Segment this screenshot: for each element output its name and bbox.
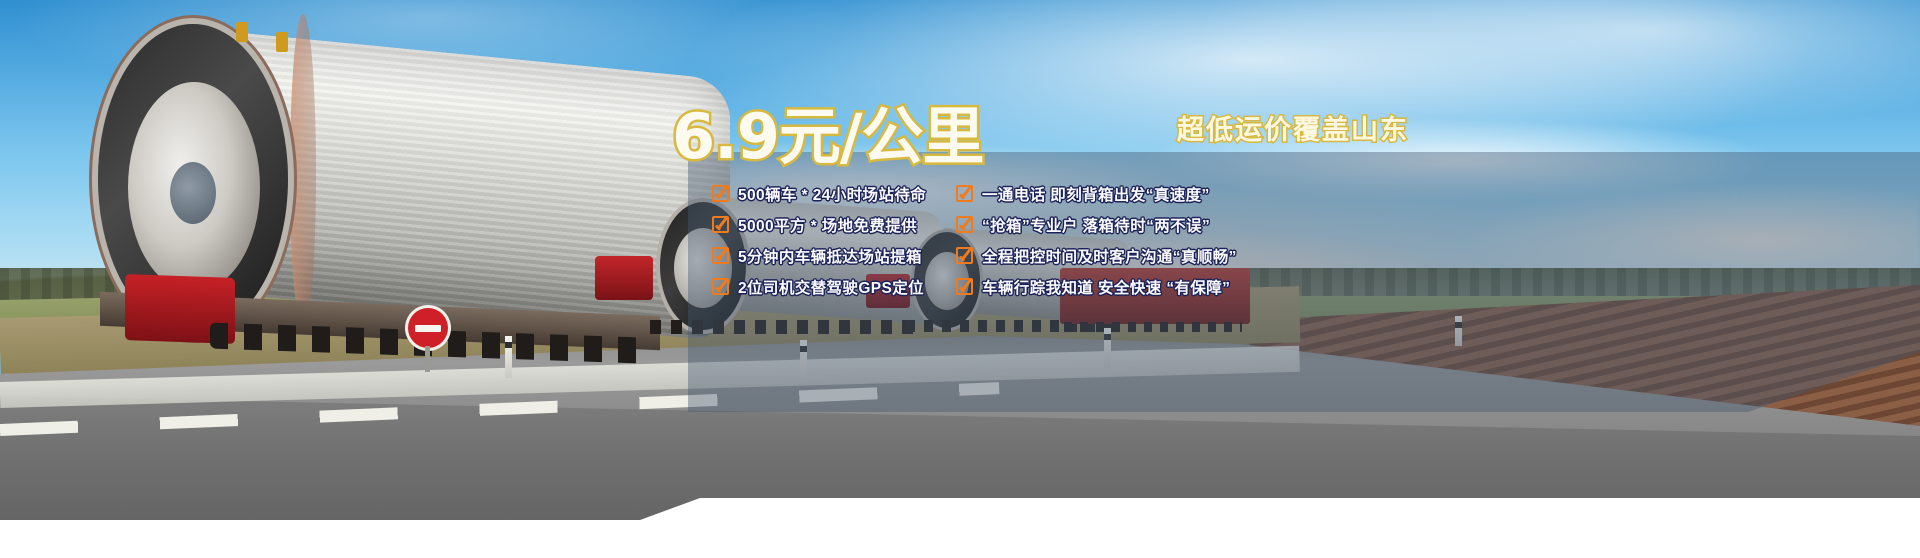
tank-interior [128,82,260,292]
tank-lifting-lug [236,22,248,42]
price-headline: 6.9元/公里 [672,86,983,176]
feature-item: 2位司机交替驾驶GPS定位 [712,271,932,302]
promo-banner: 6.9元/公里 超低运价覆盖山东 500辆车 * 24小时场站待命 5000平方… [0,0,1920,558]
tank-hub [170,162,216,224]
sign-pole [425,346,430,372]
feature-item-label: 全程把控时间及时客户沟通“真顺畅” [982,245,1237,267]
feature-item: 5分钟内车辆抵达场站提箱 [712,240,932,271]
feature-item: 500辆车 * 24小时场站待命 [712,178,932,209]
feature-item: “抢箱”专业户 落箱待时“两不误” [956,209,1206,240]
feature-item-label: “抢箱”专业户 落箱待时“两不误” [982,214,1210,236]
feature-columns: 500辆车 * 24小时场站待命 5000平方 * 场地免费提供 5分钟内车辆抵… [712,178,1712,308]
feature-item-label: 车辆行踪我知道 安全快速 “有保障” [982,276,1230,298]
feature-item-label: 5分钟内车辆抵达场站提箱 [738,245,922,267]
truck-cab [595,256,653,300]
checkbox-checked-icon [712,216,729,233]
no-entry-sign [408,308,448,348]
feature-column-right: 一通电话 即刻背箱出发“真速度” “抢箱”专业户 落箱待时“两不误” 全程把控时… [956,178,1206,308]
feature-item: 5000平方 * 场地免费提供 [712,209,932,240]
feature-item-label: 5000平方 * 场地免费提供 [738,214,917,236]
feature-item-label: 2位司机交替驾驶GPS定位 [738,276,924,298]
feature-item: 一通电话 即刻背箱出发“真速度” [956,178,1206,209]
feature-item-label: 一通电话 即刻背箱出发“真速度” [982,183,1210,205]
checkbox-checked-icon [956,278,973,295]
feature-item: 全程把控时间及时客户沟通“真顺畅” [956,240,1206,271]
roadside-post [505,336,512,378]
checkbox-checked-icon [712,247,729,264]
tank-lifting-lug [276,32,288,52]
feature-item: 车辆行踪我知道 安全快速 “有保障” [956,271,1206,302]
checkbox-checked-icon [956,216,973,233]
headline-group: 6.9元/公里 超低运价覆盖山东 [672,86,1412,146]
checkbox-checked-icon [956,185,973,202]
headline-subtitle: 超低运价覆盖山东 [1177,108,1409,147]
bottom-white-bar [0,542,1920,558]
feature-column-left: 500辆车 * 24小时场站待命 5000平方 * 场地免费提供 5分钟内车辆抵… [712,178,932,308]
checkbox-checked-icon [956,247,973,264]
checkbox-checked-icon [712,185,729,202]
feature-item-label: 500辆车 * 24小时场站待命 [738,183,926,205]
tank-rim-band [290,14,316,330]
checkbox-checked-icon [712,278,729,295]
